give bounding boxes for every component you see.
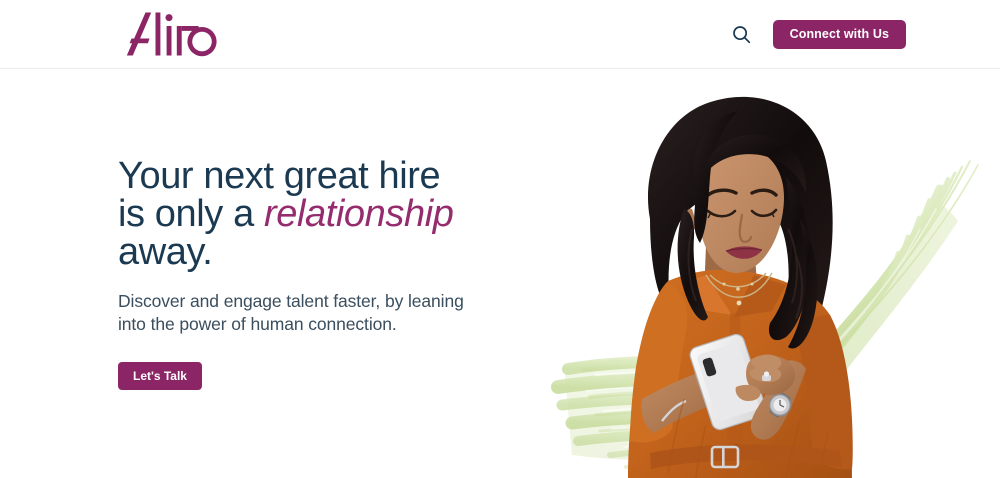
aliro-logo-mark (118, 9, 226, 59)
header-inner: Connect with Us (0, 0, 1000, 68)
hero-copy: Your next great hireis only a relationsh… (118, 157, 518, 390)
page-title: Your next great hireis only a relationsh… (118, 157, 518, 271)
hero-subtitle: Discover and engage talent faster, by le… (118, 290, 493, 336)
hero-title-line-3: away. (118, 231, 212, 273)
lets-talk-button[interactable]: Let's Talk (118, 362, 202, 390)
header-actions: Connect with Us (729, 0, 906, 68)
connect-with-us-button[interactable]: Connect with Us (773, 20, 906, 49)
search-icon[interactable] (729, 21, 755, 47)
hero-section: Your next great hireis only a relationsh… (0, 69, 1000, 478)
hero-image (500, 69, 1000, 478)
hero-title-line-2-pre: is only a (118, 193, 264, 235)
hero-title-accent: relationship (264, 193, 454, 235)
hero-illustration (500, 69, 1000, 478)
hero-title-line-1: Your next great hire (118, 155, 440, 197)
aliro-logo[interactable] (118, 9, 226, 59)
search-icon-glyph (732, 25, 751, 44)
woman-with-phone (628, 97, 853, 478)
site-header: Connect with Us (0, 0, 1000, 69)
